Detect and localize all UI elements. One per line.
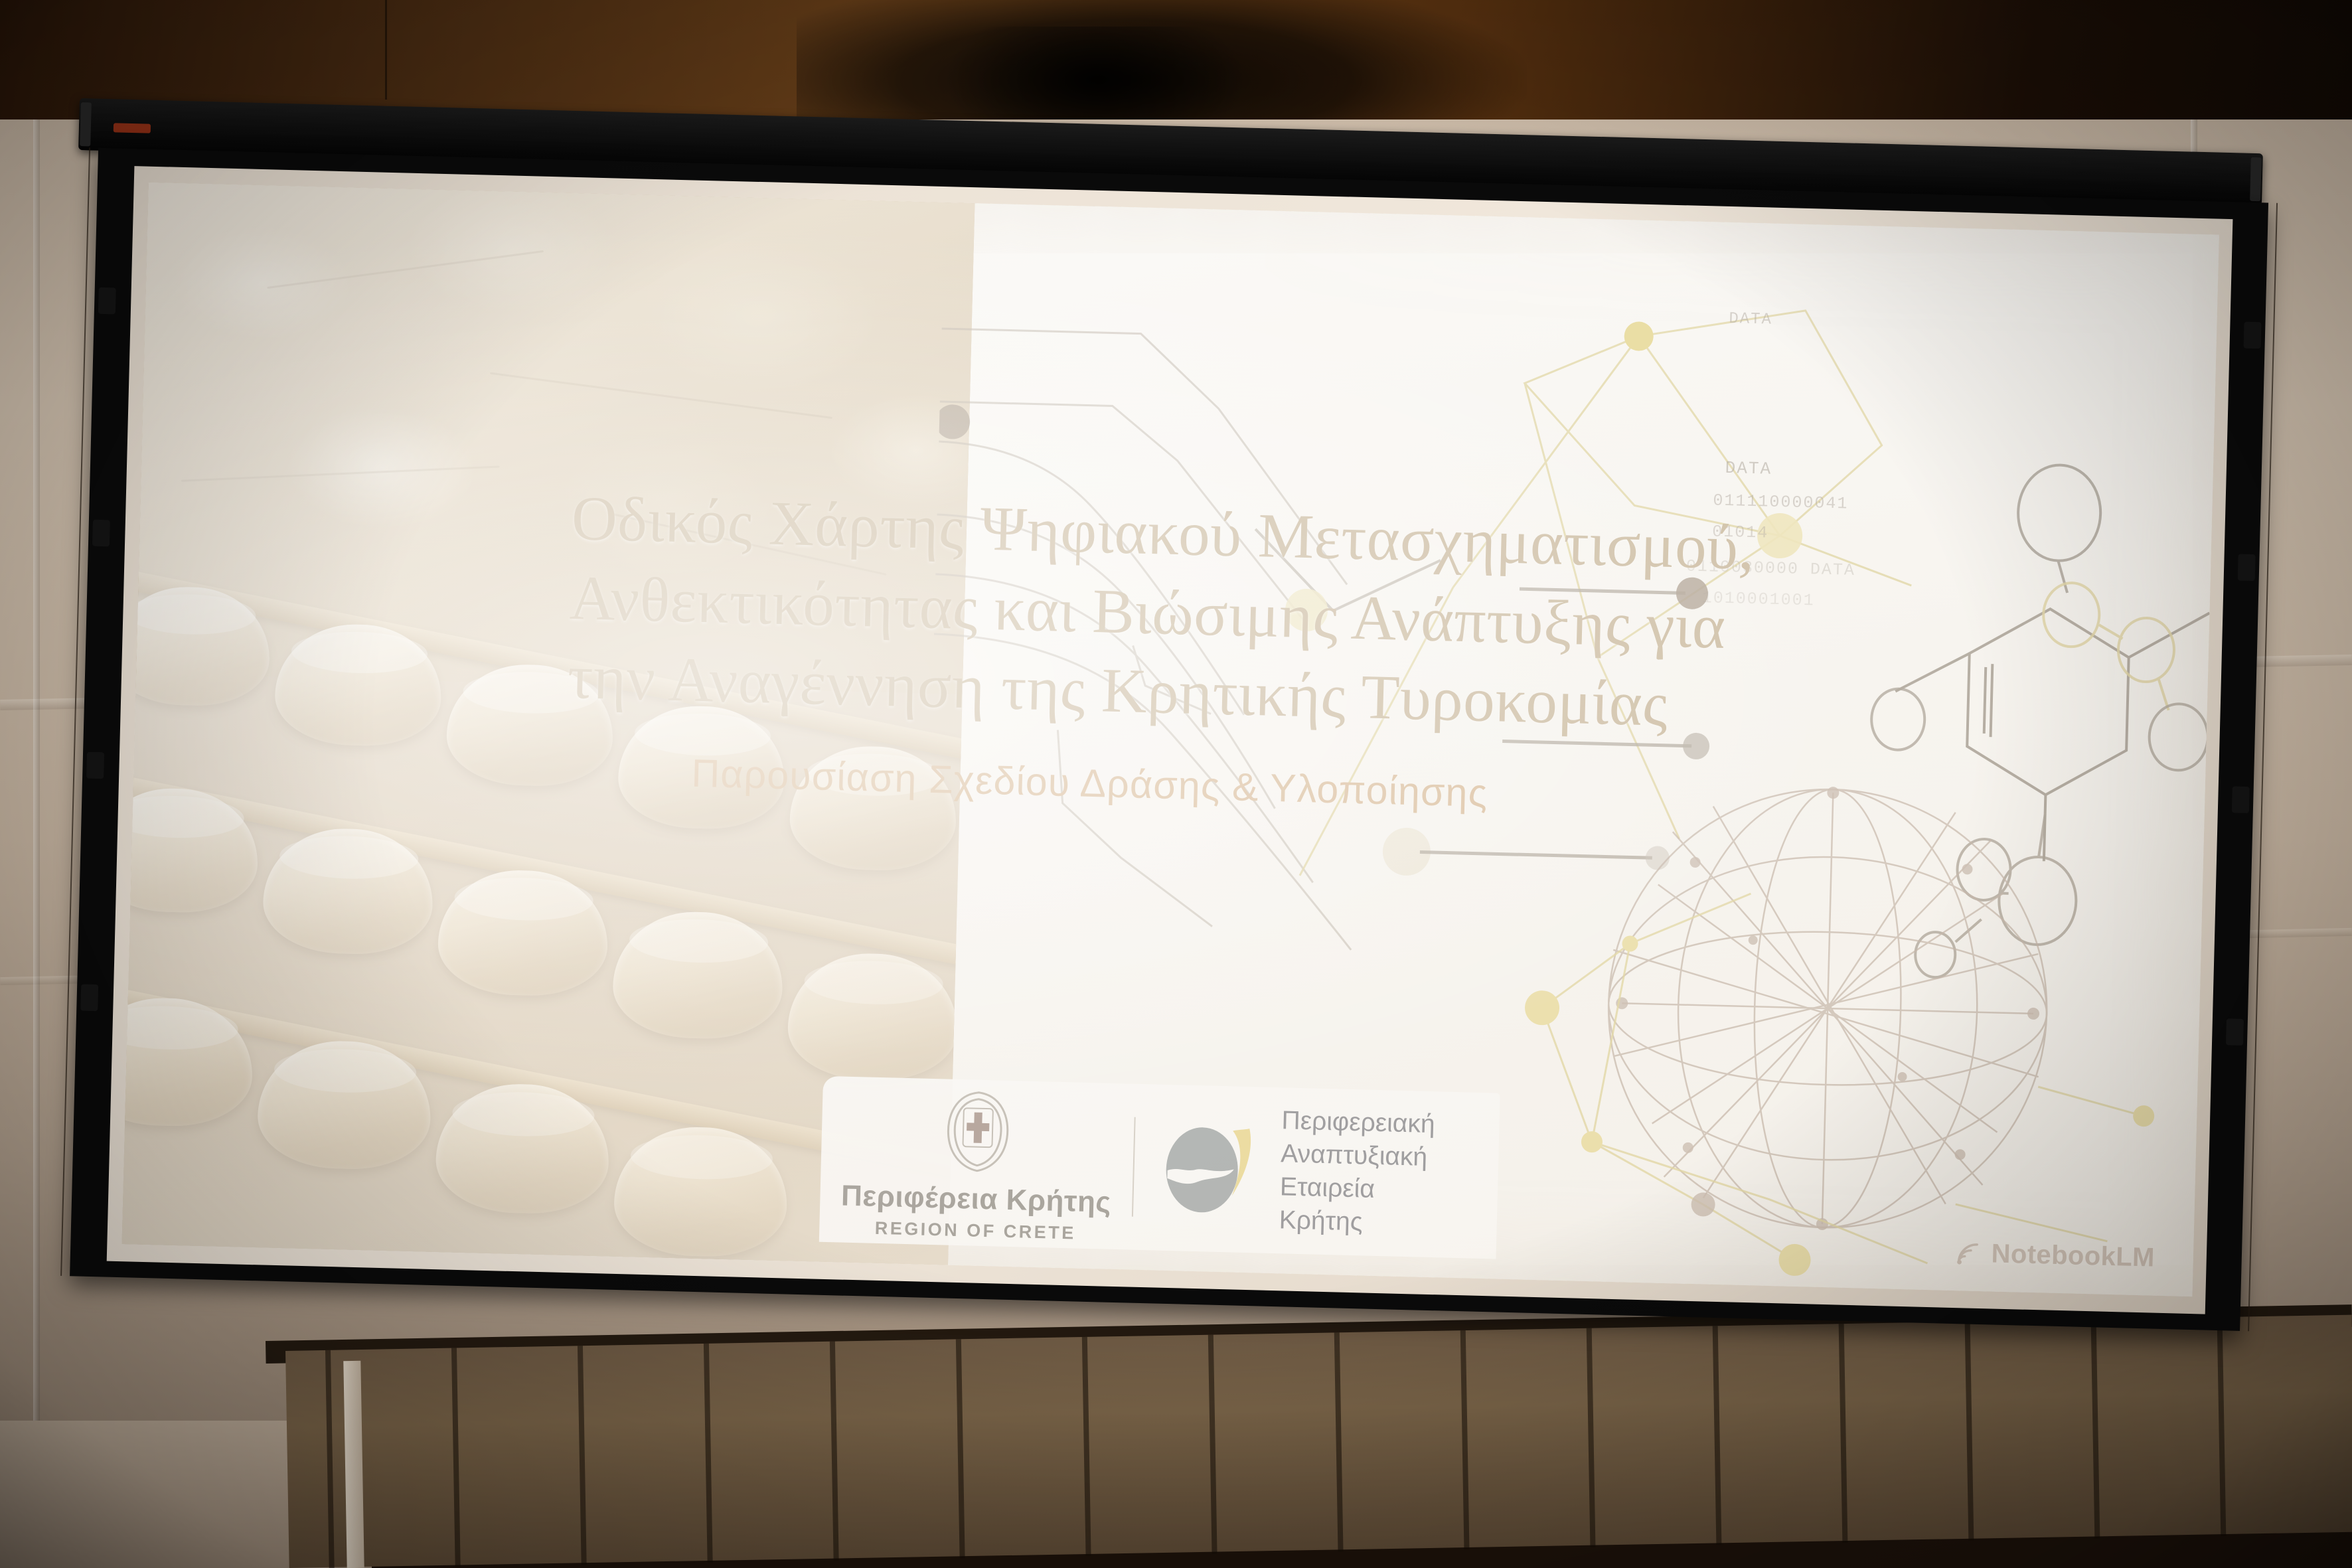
screen-surface: DATA DATA 011110000041 01014 0110030000 …: [107, 166, 2233, 1314]
projector-screen: DATA DATA 011110000041 01014 0110030000 …: [50, 98, 2290, 1342]
region-logo-english: REGION OF CRETE: [874, 1218, 1076, 1244]
presentation-slide: DATA DATA 011110000041 01014 0110030000 …: [121, 183, 2219, 1296]
notebooklm-spark-icon: [1954, 1239, 1982, 1268]
notebooklm-watermark: NotebookLM: [1954, 1238, 2155, 1273]
pak-line-3: Εταιρεία: [1279, 1170, 1433, 1208]
notebooklm-label: NotebookLM: [1991, 1239, 2155, 1273]
wall-corner-left: [33, 119, 40, 1421]
crete-island-circle-icon: [1162, 1115, 1265, 1223]
greek-republic-crest-icon: [937, 1083, 1019, 1178]
region-of-crete-logo: Περιφέρεια Κρήτης REGION OF CRETE: [819, 1081, 1135, 1245]
pak-line-1: Περιφερειακή: [1281, 1105, 1435, 1142]
region-logo-greek: Περιφέρεια Κρήτης: [840, 1180, 1111, 1219]
ceiling-panel-seam: [385, 0, 387, 100]
logo-bar: Περιφέρεια Κρήτης REGION OF CRETE: [819, 1076, 1500, 1259]
pak-logo: Περιφερειακή Αναπτυξιακή Εταιρεία Κρήτης: [1133, 1101, 1500, 1242]
room-scene: DATA DATA 011110000041 01014 0110030000 …: [0, 0, 2352, 1568]
pak-logo-text: Περιφερειακή Αναπτυξιακή Εταιρεία Κρήτης: [1279, 1105, 1435, 1241]
vertical-blinds: [285, 1315, 2352, 1568]
power-led-icon: [114, 123, 151, 133]
data-label-0: DATA: [1729, 310, 1772, 329]
screen-black-border: DATA DATA 011110000041 01014 0110030000 …: [70, 148, 2268, 1331]
pak-line-2: Αναπτυξιακή: [1281, 1137, 1435, 1174]
pak-line-4: Κρήτης: [1279, 1204, 1433, 1241]
data-label-1: DATA: [1725, 458, 1772, 479]
window-frame: [343, 1361, 364, 1568]
slide-title-block: Οδικός Χάρτης Ψηφιακού Μετασχηματισμού, …: [565, 479, 2033, 830]
